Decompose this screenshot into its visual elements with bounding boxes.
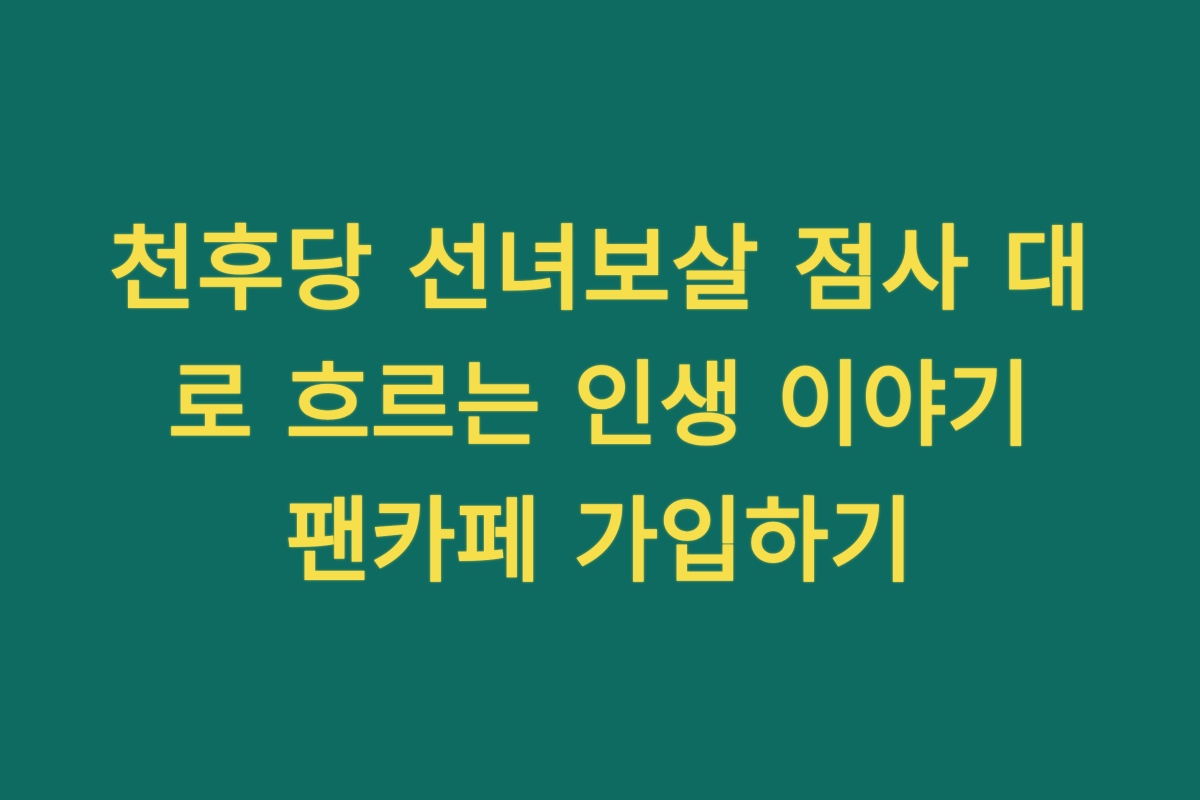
headline-line-3: 팬카페 가입하기 (70, 474, 1130, 610)
banner-canvas: 천후당 선녀보살 점사 대 로 흐르는 인생 이야기 팬카페 가입하기 (0, 0, 1200, 800)
headline-line-1: 천후당 선녀보살 점사 대 (51, 202, 1148, 338)
headline-block: 천후당 선녀보살 점사 대 로 흐르는 인생 이야기 팬카페 가입하기 (0, 202, 1200, 610)
headline-line-2: 로 흐르는 인생 이야기 (70, 338, 1130, 474)
